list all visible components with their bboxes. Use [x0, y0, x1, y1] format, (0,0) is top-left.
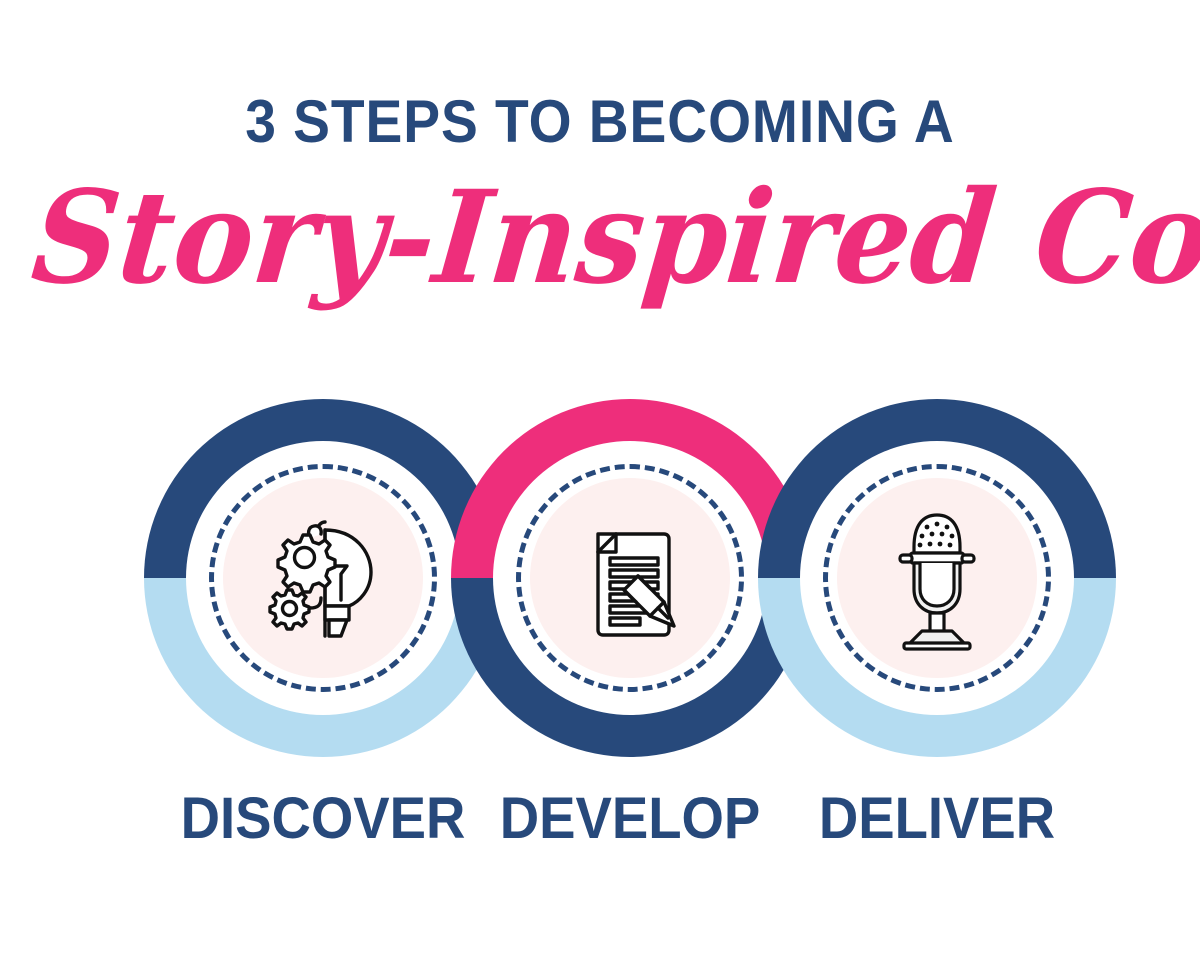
step-circle-deliver [758, 399, 1116, 757]
ring-top-half-deliver [758, 399, 1116, 578]
step-circle-discover [144, 399, 502, 757]
ring-white-develop [493, 441, 767, 715]
microphone-icon [872, 503, 1002, 653]
ring-bottom-half-deliver [758, 578, 1116, 757]
lightbulb-gears-icon [258, 503, 388, 653]
step-label-discover: DISCOVER [155, 790, 492, 848]
ring-white-deliver [800, 441, 1074, 715]
document-pencil-icon [565, 503, 695, 653]
step-labels: DISCOVER DEVELOP DELIVER [0, 790, 1200, 880]
dashed-ring-develop [516, 464, 744, 692]
step-circle-develop [451, 399, 809, 757]
ring-top-half-develop [451, 399, 809, 578]
ring-white-discover [186, 441, 460, 715]
ring-outer-discover [144, 399, 502, 757]
ring-bottom-half-develop [451, 578, 809, 757]
ring-bottom-half-discover [144, 578, 502, 757]
inner-disc-develop [530, 478, 730, 678]
ring-outer-develop [451, 399, 809, 757]
step-label-deliver: DELIVER [769, 790, 1106, 848]
inner-disc-deliver [837, 478, 1037, 678]
dashed-ring-deliver [823, 464, 1051, 692]
script-subtitle: Story-Inspired Coach [25, 152, 1158, 325]
ring-top-half-discover [144, 399, 502, 578]
page-title: 3 STEPS TO BECOMING A [48, 92, 1152, 152]
poster-canvas: 3 STEPS TO BECOMING A Story-Inspired Coa… [0, 0, 1200, 960]
inner-disc-discover [223, 478, 423, 678]
step-label-develop: DEVELOP [462, 790, 799, 848]
ring-outer-deliver [758, 399, 1116, 757]
dashed-ring-discover [209, 464, 437, 692]
